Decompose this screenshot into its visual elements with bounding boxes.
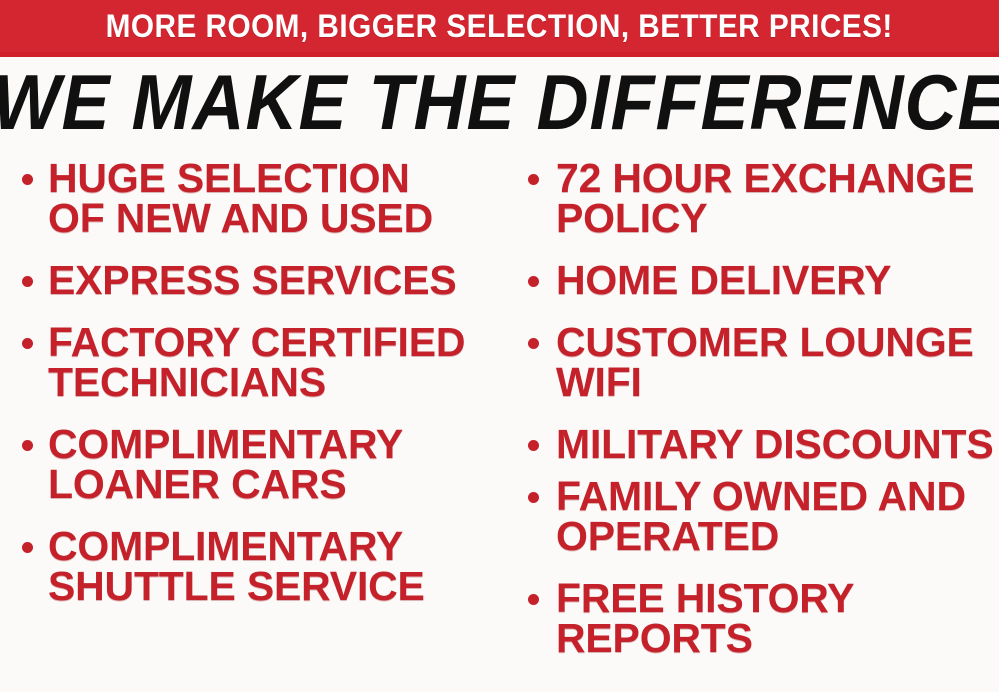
list-item: COMPLIMENTARY LOANER CARS xyxy=(8,424,500,504)
feature-label: COMPLIMENTARY SHUTTLE SERVICE xyxy=(48,526,500,606)
feature-label: HOME DELIVERY xyxy=(556,260,999,300)
bullet-dot-icon xyxy=(22,276,33,287)
feature-label: EXPRESS SERVICES xyxy=(48,260,500,300)
promo-banner-fill: MORE ROOM, BIGGER SELECTION, BETTER PRIC… xyxy=(0,0,999,52)
list-item: COMPLIMENTARY SHUTTLE SERVICE xyxy=(8,526,500,606)
bullet-dot-icon xyxy=(22,338,33,349)
feature-label: FREE HISTORY REPORTS xyxy=(556,578,999,658)
feature-list-right: 72 HOUR EXCHANGE POLICY HOME DELIVERY CU… xyxy=(512,158,999,658)
page-title: WE MAKE THE DIFFERENCE xyxy=(0,64,999,142)
feature-label: 72 HOUR EXCHANGE POLICY xyxy=(556,158,999,238)
list-item: HOME DELIVERY xyxy=(512,260,999,300)
list-item: FACTORY CERTIFIED TECHNICIANS xyxy=(8,322,500,402)
features-column-right: 72 HOUR EXCHANGE POLICY HOME DELIVERY CU… xyxy=(512,158,999,680)
promo-banner-text: MORE ROOM, BIGGER SELECTION, BETTER PRIC… xyxy=(106,10,893,42)
bullet-dot-icon xyxy=(22,440,33,451)
list-item: HUGE SELECTION OF NEW AND USED xyxy=(8,158,500,238)
list-item: FAMILY OWNED AND OPERATED xyxy=(512,476,999,556)
bullet-dot-icon xyxy=(22,174,33,185)
list-item: CUSTOMER LOUNGE WIFI xyxy=(512,322,999,402)
bullet-dot-icon xyxy=(528,492,539,503)
feature-label: FAMILY OWNED AND OPERATED xyxy=(556,476,999,556)
feature-list-left: HUGE SELECTION OF NEW AND USED EXPRESS S… xyxy=(8,158,500,606)
feature-label: HUGE SELECTION OF NEW AND USED xyxy=(48,158,500,238)
features-columns: HUGE SELECTION OF NEW AND USED EXPRESS S… xyxy=(0,158,999,692)
bullet-dot-icon xyxy=(528,338,539,349)
bullet-dot-icon xyxy=(528,594,539,605)
bullet-dot-icon xyxy=(528,276,539,287)
list-item: MILITARY DISCOUNTS xyxy=(512,424,999,464)
feature-label: MILITARY DISCOUNTS xyxy=(556,424,999,464)
list-item: EXPRESS SERVICES xyxy=(8,260,500,300)
feature-label: COMPLIMENTARY LOANER CARS xyxy=(48,424,500,504)
bullet-dot-icon xyxy=(528,174,539,185)
feature-label: CUSTOMER LOUNGE WIFI xyxy=(556,322,999,402)
list-item: FREE HISTORY REPORTS xyxy=(512,578,999,658)
features-column-left: HUGE SELECTION OF NEW AND USED EXPRESS S… xyxy=(8,158,500,628)
bullet-dot-icon xyxy=(22,542,33,553)
headline-container: WE MAKE THE DIFFERENCE xyxy=(0,62,999,144)
feature-label: FACTORY CERTIFIED TECHNICIANS xyxy=(48,322,500,402)
list-item: 72 HOUR EXCHANGE POLICY xyxy=(512,158,999,238)
promo-banner: MORE ROOM, BIGGER SELECTION, BETTER PRIC… xyxy=(0,0,999,57)
bullet-dot-icon xyxy=(528,440,539,451)
